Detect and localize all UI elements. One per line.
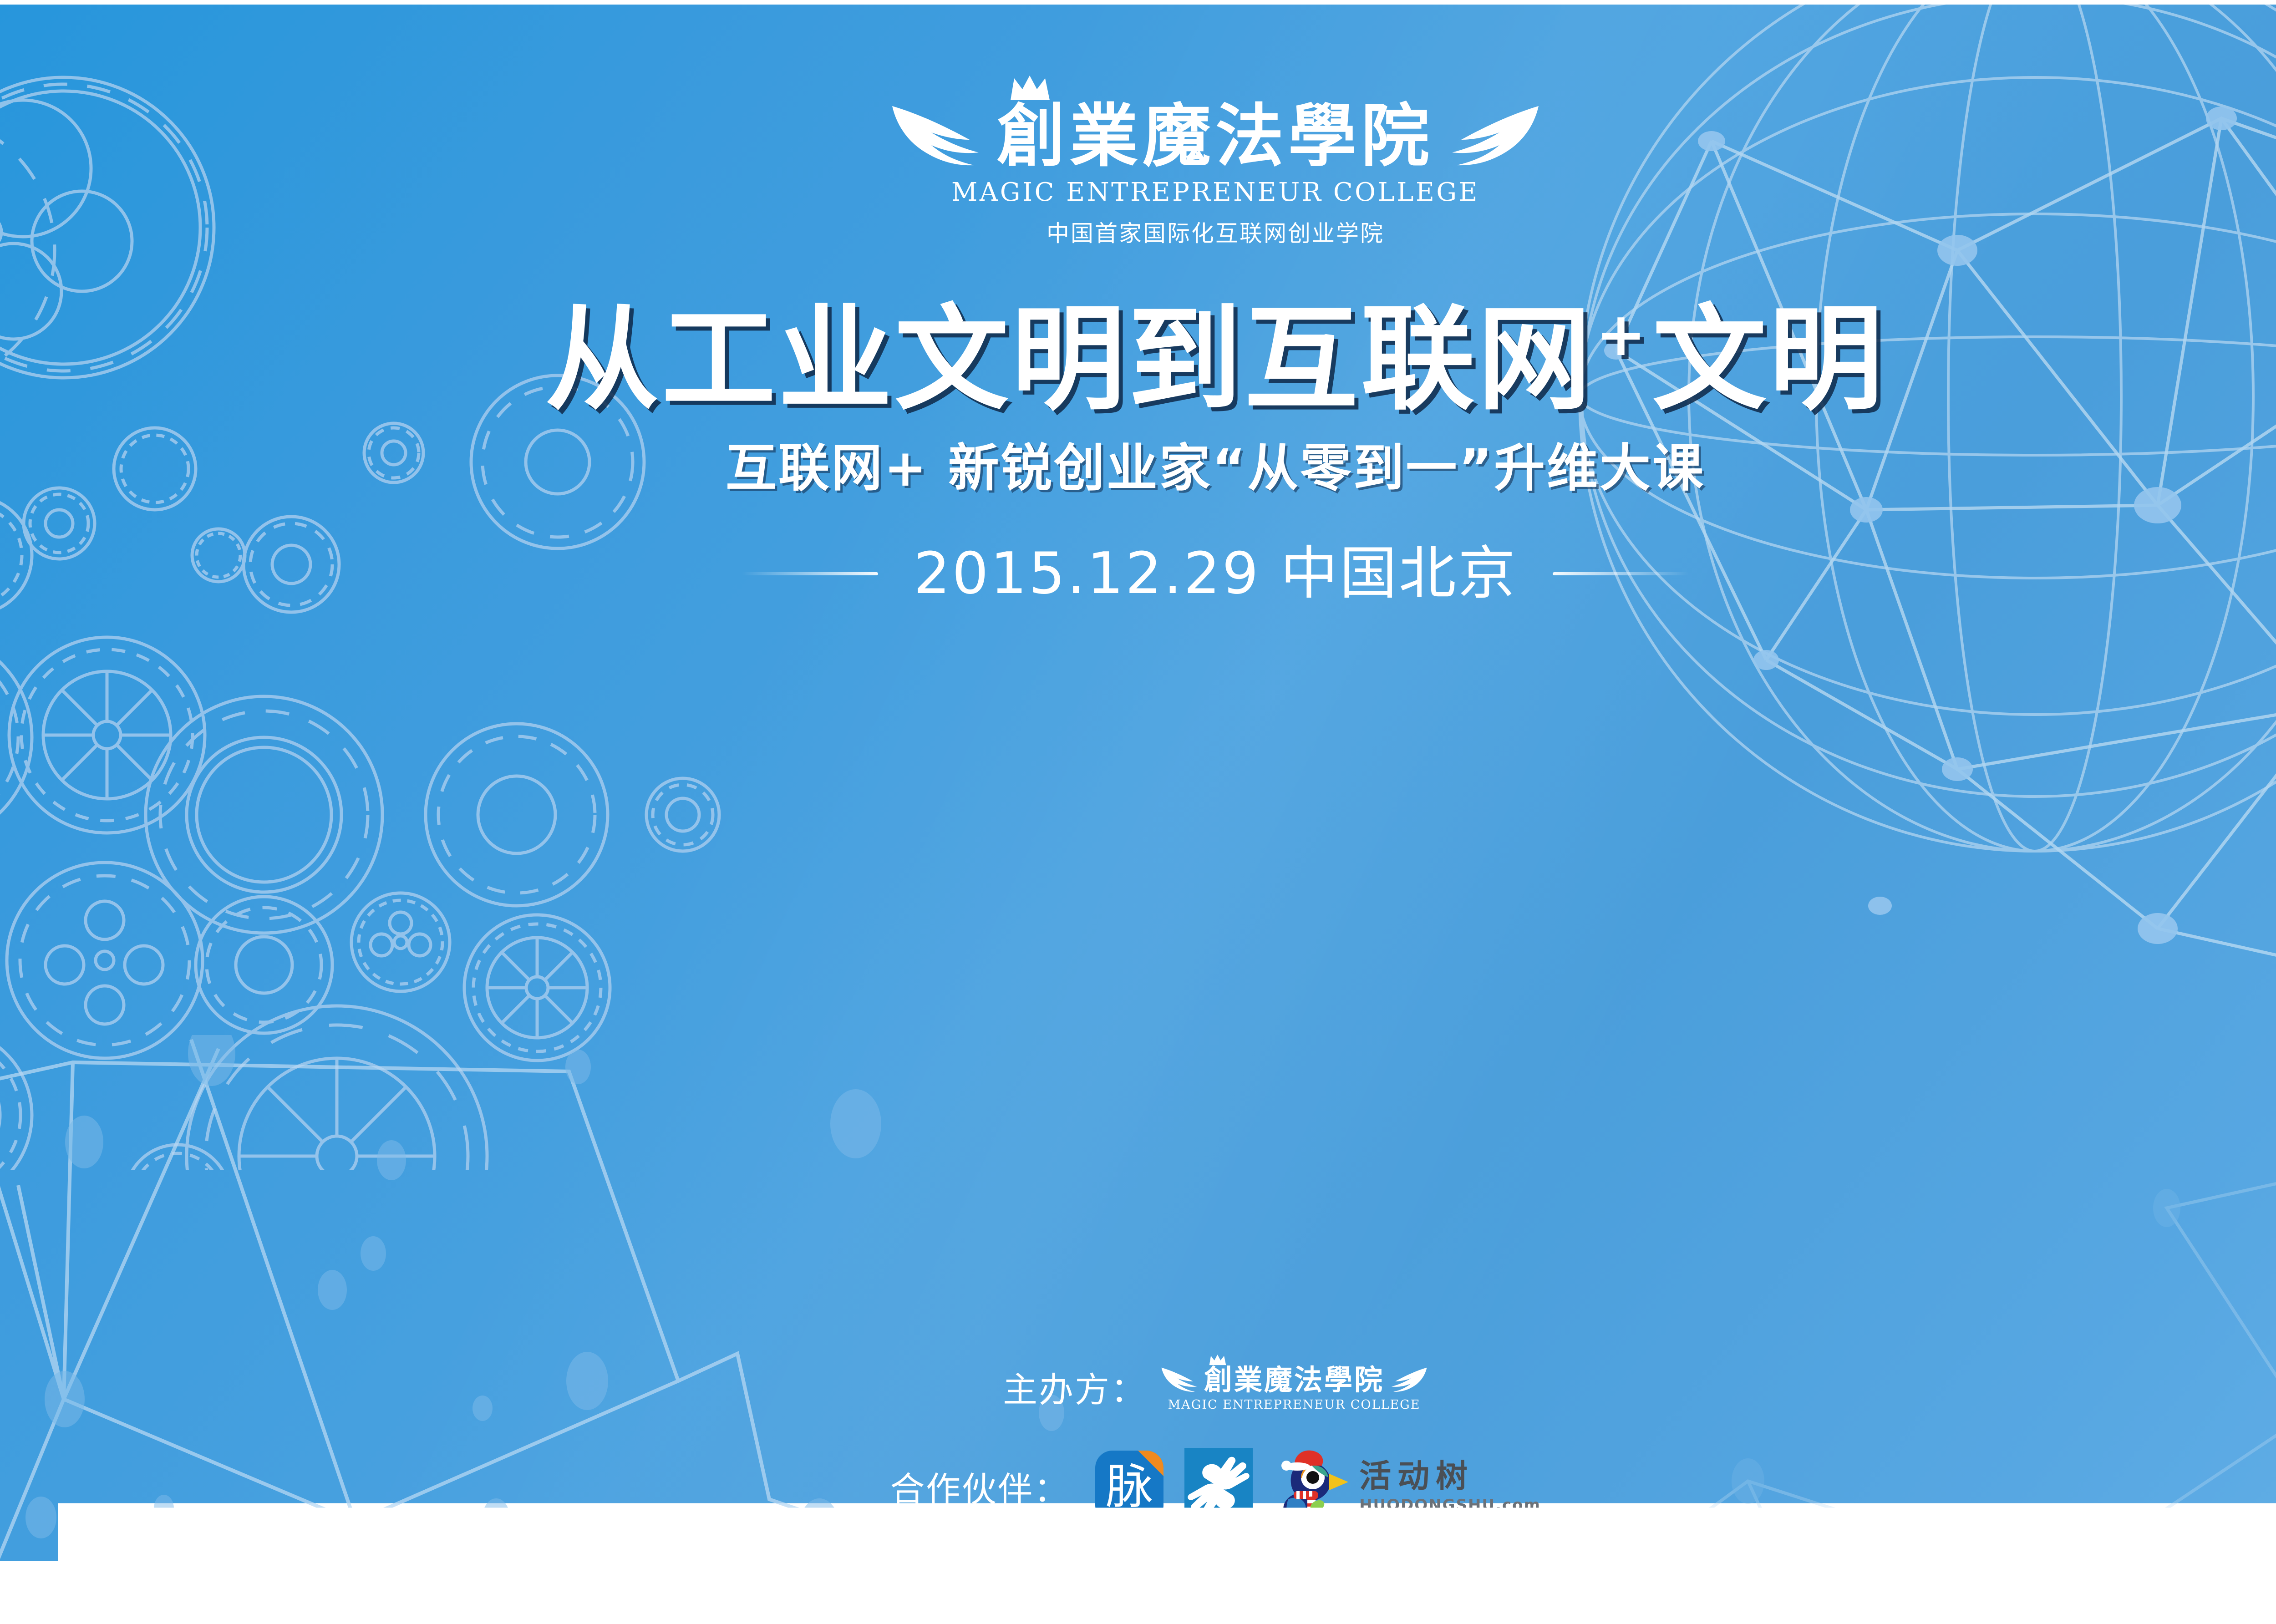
partner-logo-maimai[interactable]: 脉 [1095, 1451, 1163, 1522]
hands-logo [1184, 1448, 1253, 1525]
poster-footer: 主办方： 創業魔法學院 [0, 1362, 2276, 1528]
page-title-plus: + [1596, 304, 1646, 365]
host-section: 主办方： 創業魔法學院 [1003, 1362, 1428, 1412]
maimai-glyph: 脉 [1095, 1451, 1163, 1522]
partners-section: 合作伙伴： 脉 [890, 1446, 1541, 1528]
host-name-cn-wrap: 創業魔法學院 [1204, 1362, 1384, 1394]
divider-right [1553, 572, 1689, 575]
host-name-en: MAGIC ENTREPRENEUR COLLEGE [1168, 1398, 1421, 1412]
event-date-row: 2015.12.29 中国北京 [742, 545, 1689, 602]
brand-logo-row: 創業魔法學院 [889, 94, 1541, 170]
brand-tagline: 中国首家国际化互联网创业学院 [1047, 215, 1384, 248]
page-subtitle: 互联网+ 新锐创业家“从零到一”升维大课 [726, 443, 1705, 494]
host-name-cn: 創業魔法學院 [1204, 1363, 1384, 1396]
huodongshu-logo: 活动树 HUODONGSHU.com [1274, 1446, 1541, 1528]
huodongshu-name-cn: 活动树 [1359, 1460, 1541, 1492]
partner-logo-hands[interactable] [1184, 1448, 1253, 1525]
wing-right-icon [1389, 1364, 1428, 1392]
page-title: 从工业文明到互联网 + 文明 [545, 303, 1886, 416]
page-title-part-1: 从工业文明到互联网 [545, 303, 1594, 416]
poster-canvas: 創業魔法學院 MAGIC ENTREPRENEUR COLLEGE 中国首家国际… [0, 5, 2276, 1618]
host-logo-row: 創業魔法學院 [1160, 1362, 1428, 1394]
poster-content: 創業魔法學院 MAGIC ENTREPRENEUR COLLEGE 中国首家国际… [0, 5, 2276, 1618]
partner-logo-huodongshu[interactable]: 活动树 HUODONGSHU.com [1274, 1446, 1541, 1528]
host-label: 主办方： [1003, 1362, 1147, 1412]
wing-left-icon [1160, 1364, 1199, 1392]
crown-icon [1209, 1355, 1229, 1366]
huodongshu-name-en: HUODONGSHU.com [1359, 1497, 1541, 1513]
partner-label: 合作伙伴： [890, 1462, 1070, 1512]
brand-logo: 創業魔法學院 MAGIC ENTREPRENEUR COLLEGE 中国首家国际… [889, 94, 1541, 248]
crown-icon [1009, 76, 1058, 102]
wing-right-icon [1446, 98, 1541, 166]
brand-name-en: MAGIC ENTREPRENEUR COLLEGE [951, 178, 1479, 207]
divider-left [742, 572, 878, 575]
host-logo: 創業魔法學院 MAGIC ENTREPRENEUR COLLEGE [1160, 1362, 1428, 1412]
event-date-location: 2015.12.29 中国北京 [914, 545, 1517, 602]
huodongshu-text: 活动树 HUODONGSHU.com [1359, 1460, 1541, 1513]
page-title-part-2: 文明 [1652, 303, 1885, 416]
maimai-logo: 脉 [1095, 1451, 1163, 1522]
event-poster: 創業魔法學院 MAGIC ENTREPRENEUR COLLEGE 中国首家国际… [0, 0, 2276, 1624]
huodongshu-bird-icon [1274, 1446, 1351, 1528]
brand-name-cn: 創業魔法學院 [997, 96, 1434, 176]
wing-left-icon [889, 98, 985, 166]
brand-name-cn-wrap: 創業魔法學院 [997, 94, 1434, 170]
